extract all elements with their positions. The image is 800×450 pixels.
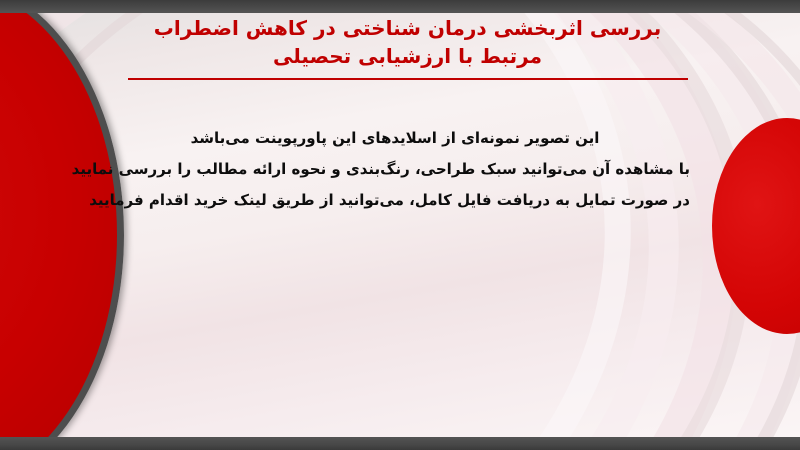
- dark-frame-bottom: [0, 437, 800, 450]
- slide-title-line-1: بررسی اثربخشی درمان شناختی در کاهش اضطرا…: [120, 14, 695, 42]
- slide-body-line-3: در صورت تمایل به دریافت فایل کامل، می‌تو…: [100, 185, 690, 216]
- slide-body-text: این تصویر نمونه‌ای از اسلایدهای این پاور…: [100, 123, 690, 216]
- slide-body-line-2: با مشاهده آن می‌توانید سبک طراحی، رنگ‌بن…: [100, 154, 690, 185]
- slide-title: بررسی اثربخشی درمان شناختی در کاهش اضطرا…: [120, 14, 695, 80]
- presentation-slide: بررسی اثربخشی درمان شناختی در کاهش اضطرا…: [0, 0, 800, 450]
- slide-body-line-1: این تصویر نمونه‌ای از اسلایدهای این پاور…: [100, 123, 690, 154]
- dark-frame-top: [0, 0, 800, 13]
- slide-title-line-2: مرتبط با ارزشیابی تحصیلی: [120, 42, 695, 70]
- title-underline-rule: [128, 78, 688, 80]
